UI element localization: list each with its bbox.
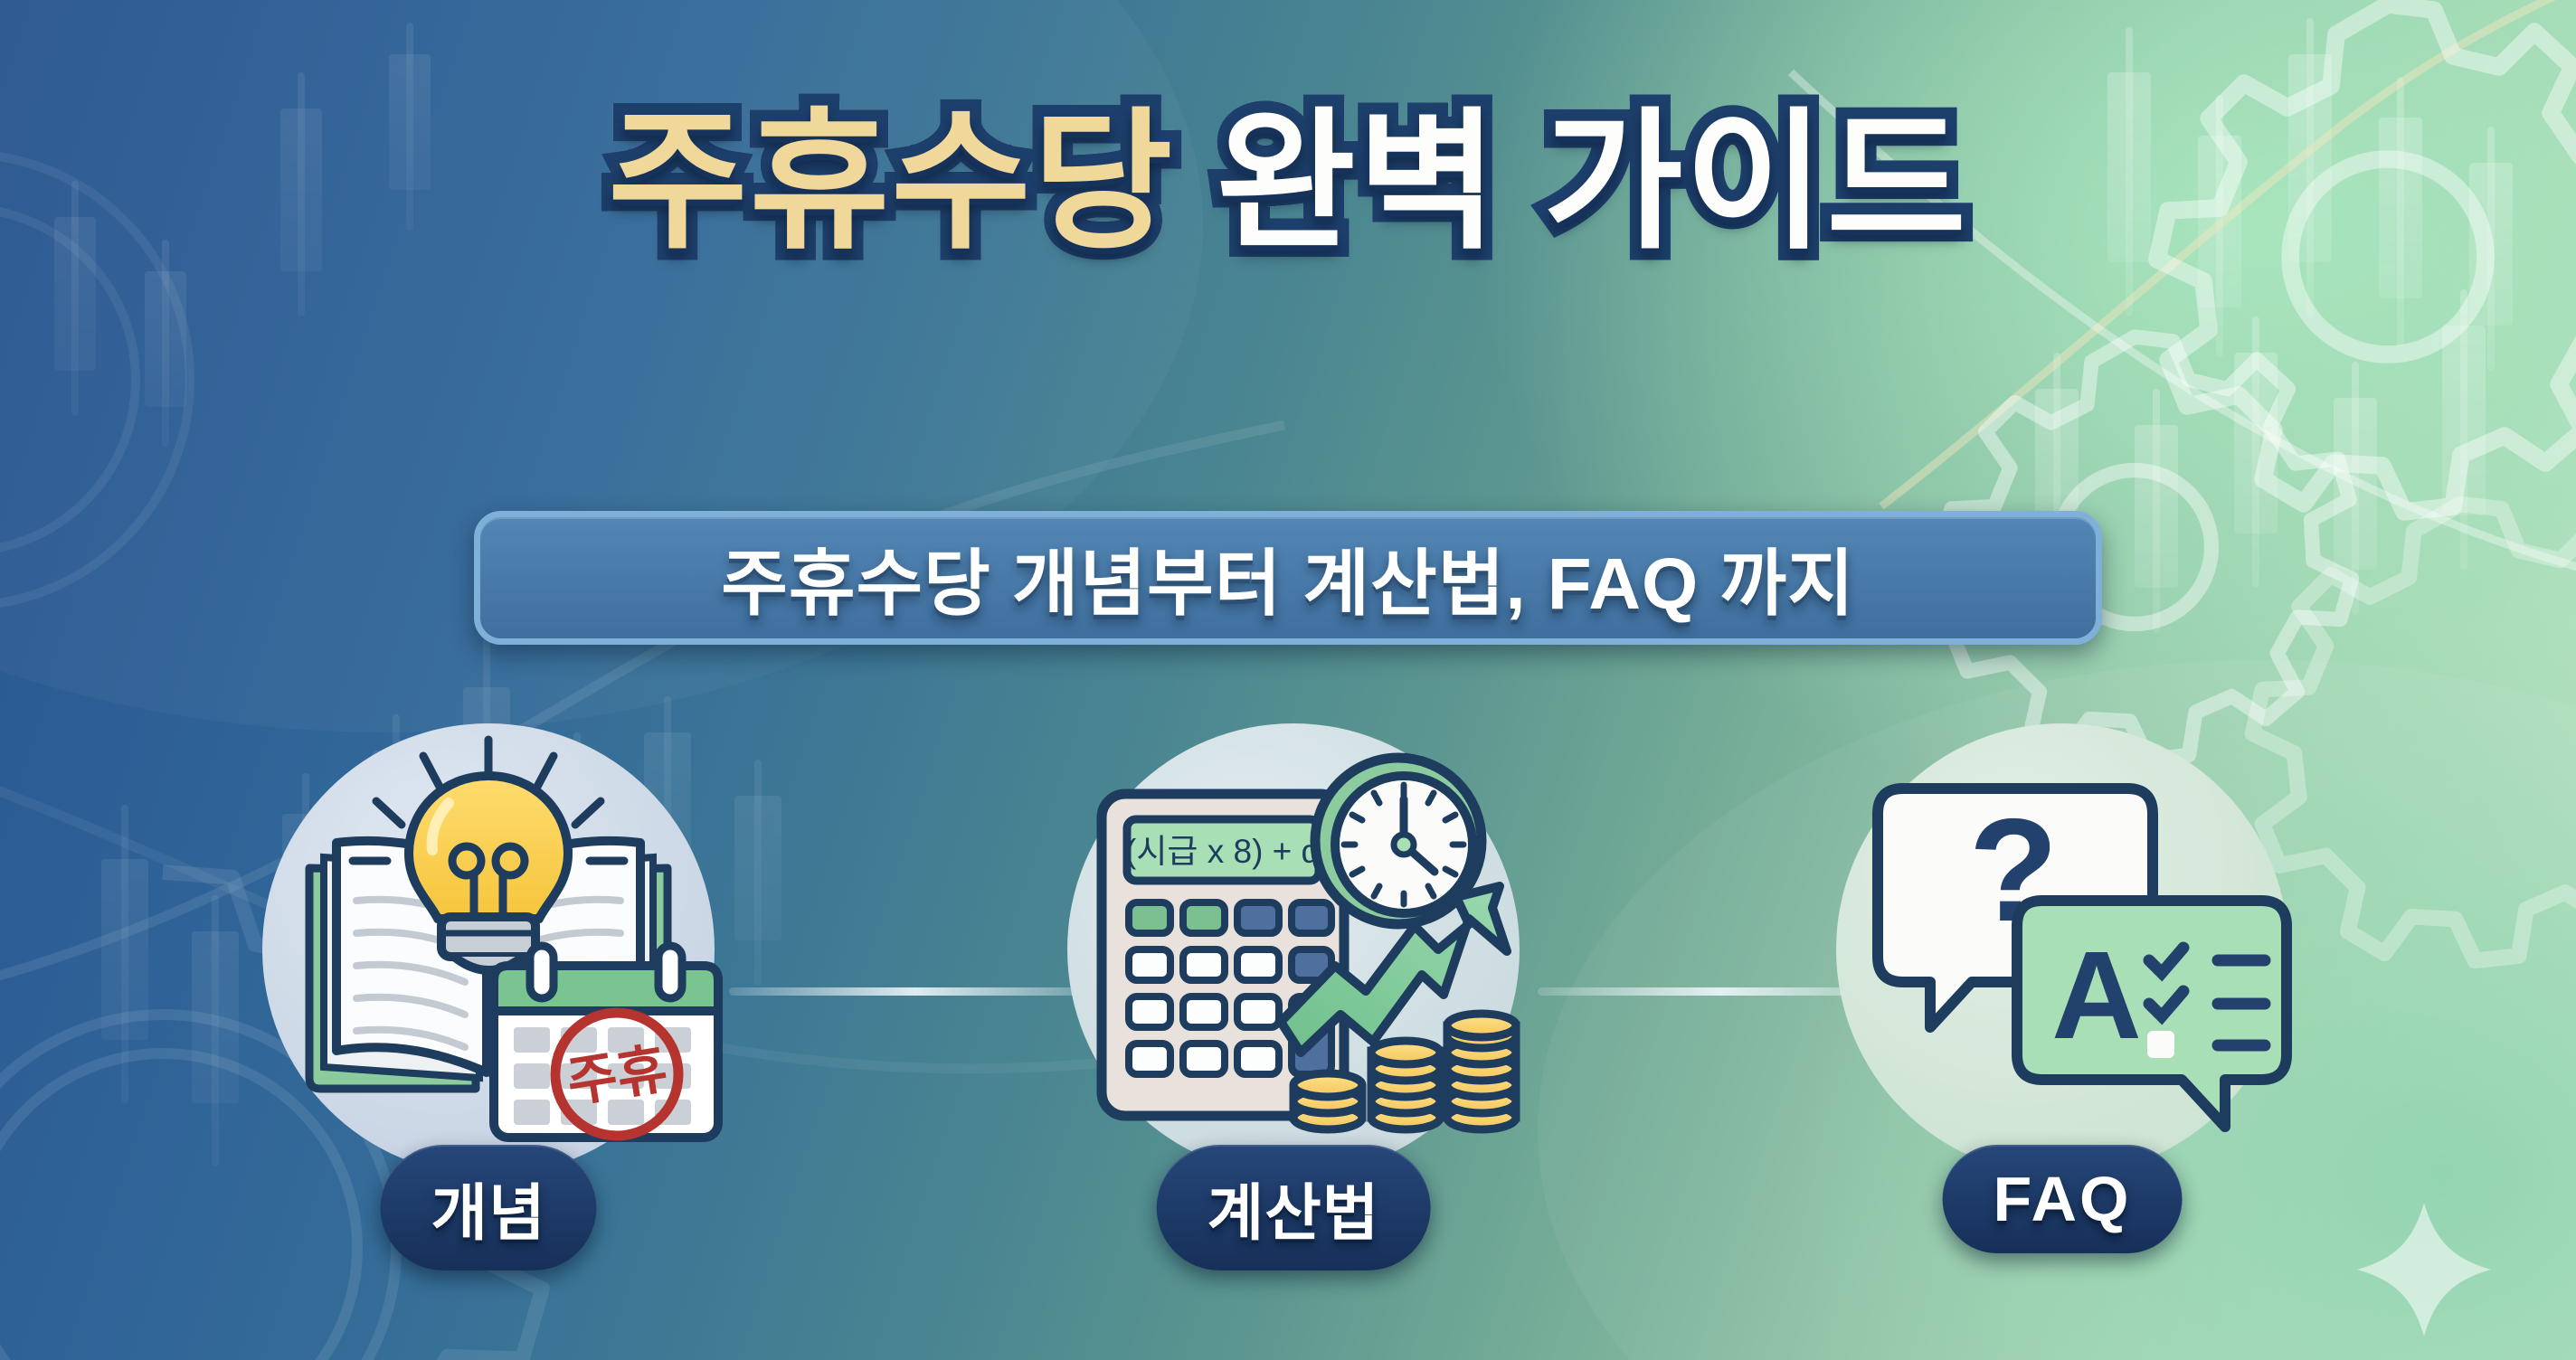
step-faq-label: FAQ (1994, 1164, 2132, 1234)
step-concept[interactable]: 주휴 개념 (244, 723, 733, 1176)
question-answer-bubbles-icon: ? A (1836, 723, 2288, 1176)
step-calculation[interactable]: (시급 x 8) + α (1049, 723, 1538, 1176)
title-white-part: 완벽 가이드 (1216, 101, 1967, 262)
step-calculation-label: 계산법 (1207, 1179, 1380, 1248)
checklist-empty-box (2147, 1031, 2174, 1058)
answer-bubble-icon: A (2017, 901, 2287, 1127)
calendar-ring-left (530, 946, 554, 998)
step-faq-label-pill[interactable]: FAQ (1943, 1145, 2183, 1253)
coin-stack-large (1447, 1014, 1516, 1129)
calculator-display-text: (시급 x 8) + α (1125, 833, 1321, 870)
calculator-clock-coins-icon: (시급 x 8) + α (1067, 723, 1520, 1176)
calendar-ring-right (658, 946, 682, 998)
subtitle-bar: 주휴수당 개념부터 계산법, FAQ 까지 (474, 511, 2102, 645)
infographic-banner: 주휴수당완벽 가이드 주휴수당 개념부터 계산법, FAQ 까지 (0, 0, 2576, 1360)
steps-row: 주휴 개념 (0, 723, 2576, 1284)
step-faq-circle: ? A (1836, 723, 2288, 1176)
step-concept-circle: 주휴 (262, 723, 715, 1176)
step-calculation-label-pill[interactable]: 계산법 (1157, 1145, 1431, 1270)
coin-stack-small (1293, 1073, 1362, 1129)
open-book-lightbulb-calendar-icon: 주휴 (262, 723, 715, 1176)
page-title: 주휴수당완벽 가이드 (0, 101, 2576, 262)
step-concept-label-pill[interactable]: 개념 (380, 1145, 596, 1270)
step-concept-label: 개념 (431, 1179, 545, 1248)
subtitle-text: 주휴수당 개념부터 계산법, FAQ 까지 (721, 525, 1854, 630)
lightbulb-base (441, 917, 535, 957)
step-faq[interactable]: ? A (1818, 723, 2306, 1176)
connector-line-1 (729, 987, 1102, 996)
title-gold-part: 주휴수당 (608, 101, 1174, 262)
clock-center (1394, 835, 1414, 855)
step-calculation-circle: (시급 x 8) + α (1067, 723, 1520, 1176)
title-line: 주휴수당완벽 가이드 (608, 101, 1968, 262)
calendar-icon: 주휴 (494, 946, 718, 1145)
coin-stack-medium (1371, 1041, 1440, 1129)
answer-letter-text: A (2051, 926, 2142, 1065)
